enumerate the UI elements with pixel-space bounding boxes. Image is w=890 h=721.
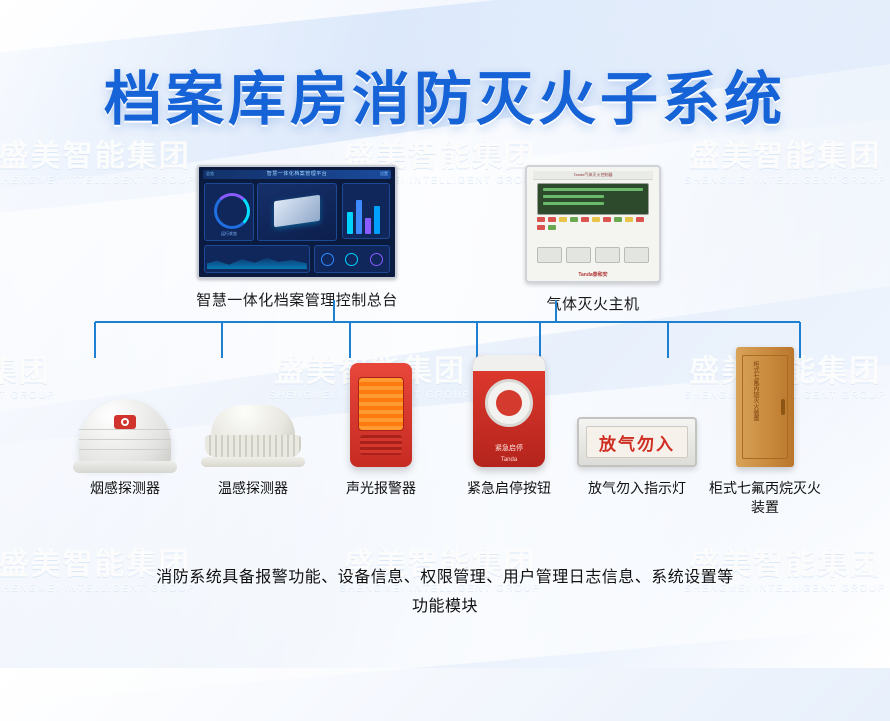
gas-host-header: Tanda气体灭火控制器 (533, 171, 653, 180)
smoke-detector-led (114, 415, 136, 429)
top-device-gas-host-caption: 气体灭火主机 (488, 293, 698, 314)
device-caption: 烟感探测器 (65, 479, 185, 498)
console-bottom-panels (204, 245, 390, 273)
console-3d-panel (257, 183, 337, 241)
emergency-button-brand: Tanda (473, 457, 545, 463)
device-caption: 声光报警器 (321, 479, 441, 498)
top-device-gas-host: Tanda气体灭火控制器 Tanda泰和安 气体灭火主机 (488, 165, 698, 314)
device-cabinet-extinguisher: 柜式七氟丙烷灭火装置 柜式七氟丙烷灭火装置 (705, 352, 825, 517)
sound-light-alarm-icon (350, 363, 412, 467)
console-gauge-panel: 运行状态 (204, 183, 254, 241)
console-bar-chart-panel (342, 183, 390, 239)
console-gauge-label: 运行状态 (205, 231, 253, 237)
top-device-console: 总览 智慧一体化档案管理平台 设置 运行状态 智慧一体化档案管理控制总台 (192, 165, 402, 314)
console-waveform-panel (204, 245, 310, 273)
emergency-button-icon[interactable]: 紧急启停 Tanda (473, 355, 545, 467)
console-titlebar-right: 设置 (380, 171, 388, 177)
alarm-speaker-grill (360, 435, 402, 455)
console-status-dials (314, 245, 390, 273)
device-row: 烟感探测器 温感探测器 声光报警器 紧急启停 Tanda 紧急启停按 (0, 352, 890, 517)
page-title: 档案库房消防灭火子系统 (0, 52, 890, 136)
gas-host-brand: Tanda泰和安 (527, 271, 659, 278)
footer-note: 消防系统具备报警功能、设备信息、权限管理、用户管理日志信息、系统设置等 功能模块 (0, 564, 890, 622)
release-indicator-face: 放气勿入 (586, 426, 688, 458)
emergency-button-label: 紧急启停 (473, 443, 545, 453)
console-screen-image: 总览 智慧一体化档案管理平台 设置 运行状态 (197, 165, 397, 279)
device-smoke-detector: 烟感探测器 (65, 352, 185, 517)
console-titlebar: 总览 智慧一体化档案管理平台 设置 (203, 170, 391, 179)
device-caption: 温感探测器 (193, 479, 313, 498)
footer-note-line2: 功能模块 (0, 593, 890, 622)
waveform-icon (207, 255, 307, 269)
smoke-detector-icon (79, 399, 171, 467)
console-titlebar-title: 智慧一体化档案管理平台 (267, 170, 328, 179)
device-caption: 柜式七氟丙烷灭火装置 (705, 479, 825, 517)
cabinet-3d-icon (274, 195, 320, 227)
footer-note-line1: 消防系统具备报警功能、设备信息、权限管理、用户管理日志信息、系统设置等 (0, 564, 890, 593)
alarm-strobe-window (358, 377, 404, 431)
gauge-ring-icon (214, 193, 250, 229)
gas-host-indicator-leds (537, 217, 649, 230)
gas-host-buttons[interactable] (537, 247, 649, 263)
gas-host-image: Tanda气体灭火控制器 Tanda泰和安 (525, 165, 661, 283)
device-heat-detector: 温感探测器 (193, 352, 313, 517)
device-caption: 紧急启停按钮 (449, 479, 569, 498)
release-indicator-lamp-icon: 放气勿入 (577, 417, 697, 467)
top-device-console-caption: 智慧一体化档案管理控制总台 (192, 289, 402, 310)
device-gas-release-indicator-lamp: 放气勿入 放气勿入指示灯 (577, 352, 697, 517)
emergency-push-button[interactable] (485, 379, 533, 427)
cabinet-side-text: 柜式七氟丙烷灭火装置 (746, 361, 758, 421)
console-titlebar-left: 总览 (206, 171, 214, 177)
device-sound-light-alarm: 声光报警器 (321, 352, 441, 517)
heat-detector-icon (201, 405, 305, 467)
cabinet-handle (781, 399, 785, 415)
device-emergency-start-stop-button: 紧急启停 Tanda 紧急启停按钮 (449, 352, 569, 517)
release-indicator-text: 放气勿入 (599, 430, 675, 455)
cabinet-extinguisher-icon: 柜式七氟丙烷灭火装置 (736, 347, 794, 467)
device-caption: 放气勿入指示灯 (577, 479, 697, 498)
top-device-row: 总览 智慧一体化档案管理平台 设置 运行状态 智慧一体化档案管理控制总台 Tan… (0, 165, 890, 314)
gas-host-display (537, 183, 649, 215)
